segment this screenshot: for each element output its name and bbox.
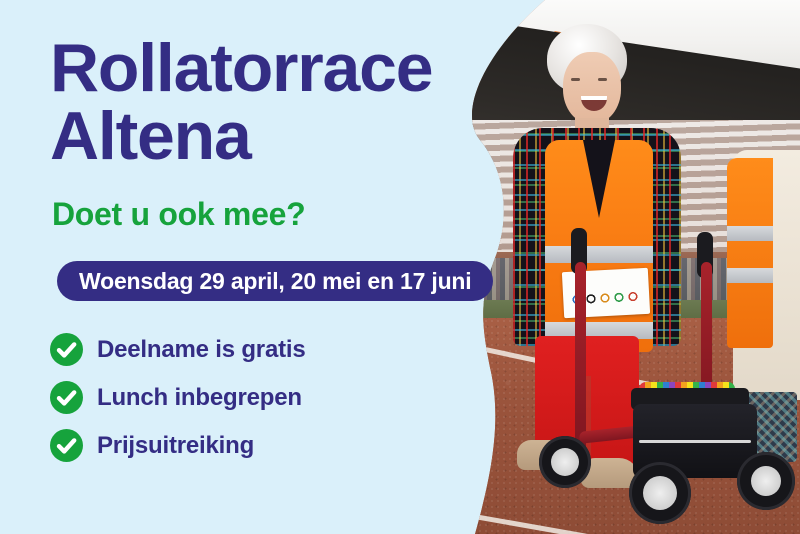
second-participant-vest-stripe [727,226,773,241]
date-badge-label: Woensdag 29 april, 20 mei en 17 juni [79,268,471,295]
background-person-legs [437,324,483,342]
subtitle: Doet u ook mee? [52,196,305,233]
page-title: Rollatorrace Altena [50,34,470,170]
list-item-label: Prijsuitreiking [97,432,254,460]
rollator-wheel-hub [551,448,579,476]
second-participant-vest [727,158,773,348]
rollator-wheel-hub [751,466,781,496]
woman-face [563,52,621,124]
hero-photo-scene [435,0,800,534]
list-item: Prijsuitreiking [50,429,306,462]
list-item-label: Lunch inbegrepen [97,384,302,412]
hero-photo [435,0,800,534]
list-item-label: Deelname is gratis [97,336,306,364]
bunting-flag-icon [452,16,468,35]
list-item: Deelname is gratis [50,333,306,366]
list-item: Lunch inbegrepen [50,381,306,414]
rollator-frame-left [575,262,586,452]
date-badge: Woensdag 29 april, 20 mei en 17 juni [57,261,493,301]
check-circle-icon [50,381,83,414]
rollator-wheel-hub [643,476,677,510]
promo-banner: Rollatorrace Altena Doet u ook mee? Woen… [0,0,800,534]
woman-eye [571,78,580,81]
feature-list: Deelname is gratis Lunch inbegrepen Prij… [50,333,306,462]
vest-reflective-stripe [545,246,653,263]
background-person-shirt [443,296,477,330]
check-circle-icon [50,333,83,366]
second-participant-vest-stripe [727,268,773,283]
woman-eye [598,78,607,81]
check-circle-icon [50,429,83,462]
rollator-bag-trim [639,440,751,443]
